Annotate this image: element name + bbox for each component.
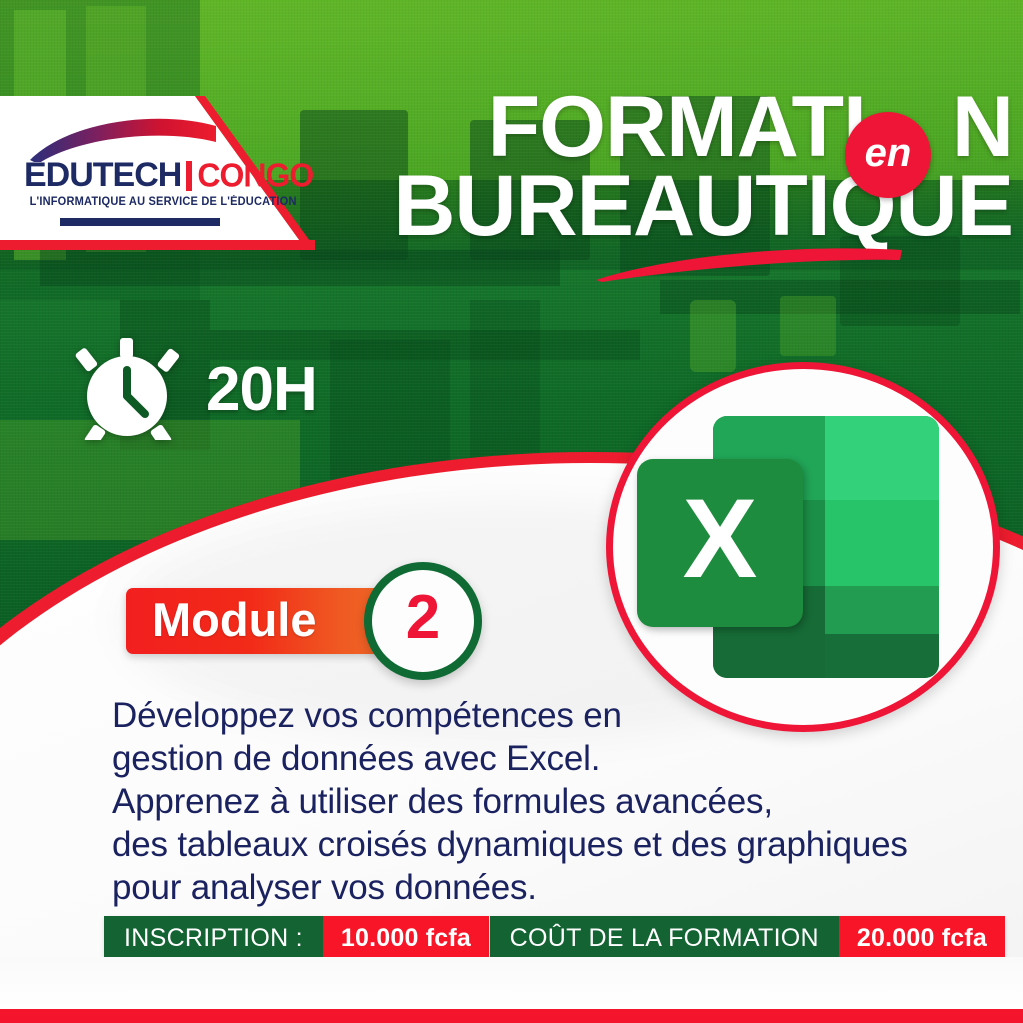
- excel-tile-tr: [825, 416, 939, 500]
- logo-secondary-text: CONGO: [197, 156, 313, 195]
- excel-x-letter: X: [683, 483, 758, 595]
- promo-poster: FORMATIN BUREAUTIQUE en: [0, 0, 1023, 1023]
- price-formation: COÛT DE LA FORMATION 20.000 fcfa: [490, 916, 1005, 960]
- logo-divider: [186, 161, 192, 191]
- duration-label: 20H: [206, 354, 317, 425]
- description-line: pour analyser vos données.: [112, 866, 912, 909]
- excel-tile-br2: [825, 634, 939, 678]
- en-badge: en: [845, 112, 931, 198]
- description-line: gestion de données avec Excel.: [112, 737, 912, 780]
- description-line: des tableaux croisés dynamiques et des g…: [112, 823, 912, 866]
- alarm-clock-icon: [72, 338, 184, 440]
- module-bar: Module: [126, 588, 402, 654]
- module-number: 2: [406, 587, 440, 649]
- description-block: Développez vos compétences en gestion de…: [112, 694, 912, 909]
- bottom-white-margin: [0, 957, 1023, 1009]
- module-label: Module: [152, 596, 316, 643]
- excel-tile-mr: [825, 500, 939, 586]
- brand-logo: EDUTECH CONGO L'INFORMATIQUE AU SERVICE …: [8, 108, 228, 238]
- module-badge: Module 2: [126, 588, 402, 654]
- logo-rule: [60, 216, 220, 226]
- logo-plaque-red-underline: [0, 240, 315, 250]
- price-inscription: INSCRIPTION : 10.000 fcfa: [104, 916, 489, 960]
- price-inscription-value: 10.000 fcfa: [323, 916, 489, 960]
- duration-badge: 20H: [72, 338, 317, 440]
- excel-x-tile: X: [637, 459, 803, 627]
- description-line: Développez vos compétences en: [112, 694, 912, 737]
- module-number-circle: 2: [364, 562, 482, 680]
- excel-tile-br: [825, 586, 939, 634]
- bottom-red-strip: [0, 1009, 1023, 1023]
- price-inscription-label: INSCRIPTION :: [104, 916, 323, 960]
- logo-tagline: L'INFORMATIQUE AU SERVICE DE L'ÉDUCATION: [30, 196, 297, 208]
- price-formation-value: 20.000 fcfa: [839, 916, 1005, 960]
- en-badge-label: en: [865, 131, 912, 176]
- price-formation-label: COÛT DE LA FORMATION: [490, 916, 839, 960]
- logo-primary-text: EDUTECH: [24, 156, 181, 195]
- description-line: Apprenez à utiliser des formules avancée…: [112, 780, 912, 823]
- logo-wordmark: EDUTECH CONGO: [24, 156, 313, 195]
- pricing-row: INSCRIPTION : 10.000 fcfa COÛT DE LA FOR…: [0, 916, 1023, 960]
